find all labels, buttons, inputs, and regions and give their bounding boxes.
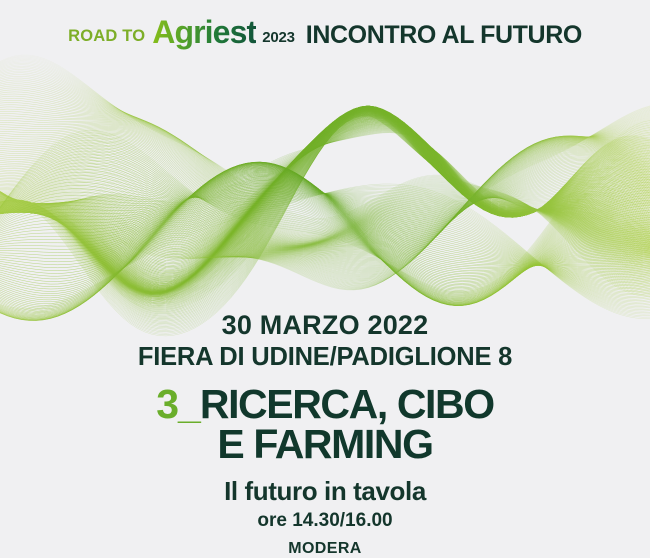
session-title-line-1: 3_RICERCA, CIBO: [0, 385, 650, 425]
moderator-label: MODERA: [288, 540, 362, 557]
event-tagline: INCONTRO AL FUTURO: [306, 21, 582, 50]
poster-canvas: ROAD TO Agriest 2023 INCONTRO AL FUTURO …: [0, 0, 650, 558]
edition-year: 2023: [262, 29, 295, 46]
session-number: 3_: [156, 381, 200, 427]
moderator-heading-block: MODERA: [0, 540, 650, 558]
event-venue: FIERA DI UDINE/PADIGLIONE 8: [0, 343, 650, 372]
header-lockup: ROAD TO Agriest 2023 INCONTRO AL FUTURO: [0, 14, 650, 51]
session-subtitle: Il futuro in tavola: [0, 477, 650, 506]
road-to-label: ROAD TO: [68, 27, 145, 46]
session-title-block: 3_RICERCA, CIBO E FARMING: [0, 385, 650, 465]
agriest-wordmark: Agriest: [152, 14, 256, 51]
event-date: 30 MARZO 2022: [0, 310, 650, 342]
session-title-line-2: E FARMING: [0, 425, 650, 465]
event-info-block: 30 MARZO 2022 FIERA DI UDINE/PADIGLIONE …: [0, 310, 650, 372]
session-time: ore 14.30/16.00: [0, 510, 650, 532]
session-subtitle-block: Il futuro in tavola ore 14.30/16.00: [0, 477, 650, 532]
